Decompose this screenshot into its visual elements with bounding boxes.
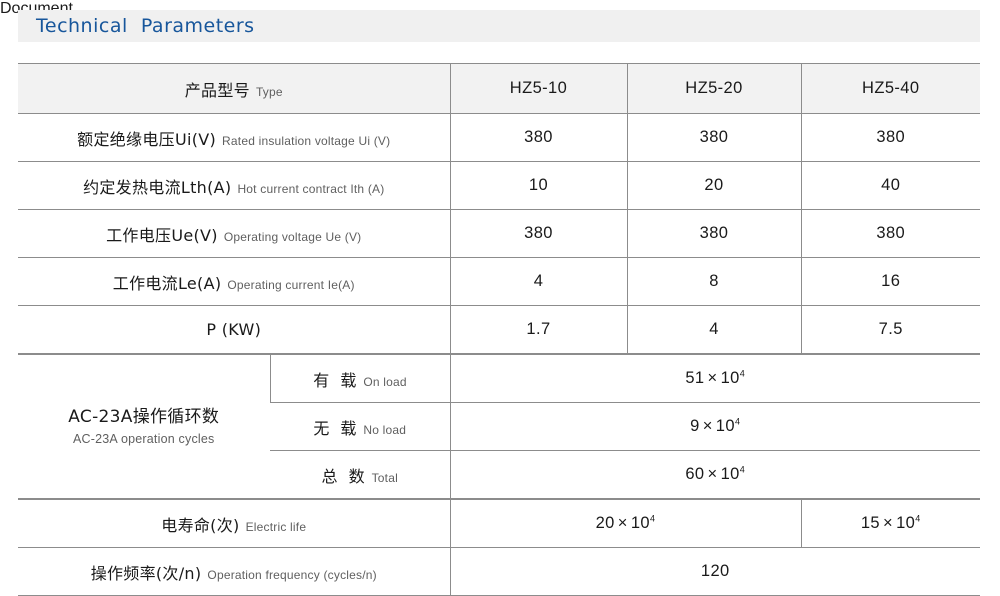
value-exponent: 4 (735, 417, 740, 427)
cell-value: 20 (627, 162, 801, 210)
cell-value: 1.7 (450, 306, 627, 354)
value-base: 60 (685, 465, 704, 483)
row-label-operating-current: 工作电流Le(A)Operating current Ie(A) (18, 258, 450, 306)
cell-value: 380 (801, 210, 980, 258)
header-cell-model-3: HZ5-40 (801, 64, 980, 114)
cell-value: 10 (450, 162, 627, 210)
value-power: 10 (721, 369, 740, 387)
value-base: 9 (690, 417, 700, 435)
sublabel-cn: 总 数 (322, 467, 368, 486)
row-label-cn: P (KW) (206, 320, 261, 339)
ac23a-sublabel-on-load: 有 载On load (270, 355, 450, 403)
ac23a-value-on-load: 51×104 (450, 355, 980, 403)
table-row: P (KW) 1.7 4 7.5 (18, 306, 980, 354)
cell-value: 4 (450, 258, 627, 306)
ac23a-sublabel-total: 总 数Total (270, 451, 450, 499)
times-symbol: × (708, 465, 718, 483)
sublabel-en: No load (363, 423, 406, 437)
sublabel-en: On load (363, 375, 406, 389)
row-label-cn: 工作电流Le(A) (113, 274, 222, 293)
row-label-en: Rated insulation voltage Ui (V) (222, 134, 390, 148)
type-label-en: Type (256, 85, 283, 99)
row-label-en: Hot current contract Ith (A) (237, 182, 384, 196)
row-label-en: Operation frequency (cycles/n) (207, 568, 376, 582)
row-label-en: Electric life (246, 520, 307, 534)
table-row-operation-frequency: 操作频率(次/n)Operation frequency (cycles/n) … (18, 548, 980, 596)
page-title: Technical Parameters (36, 15, 255, 37)
ac23a-label-en: AC-23A operation cycles (73, 431, 214, 448)
times-symbol: × (618, 514, 628, 532)
cell-value: 380 (450, 210, 627, 258)
value-exponent: 4 (740, 369, 745, 379)
row-label-cn: 额定绝缘电压Ui(V) (77, 130, 216, 149)
value-base: 20 (596, 514, 615, 532)
row-label-operation-frequency: 操作频率(次/n)Operation frequency (cycles/n) (18, 548, 450, 596)
header-cell-model-2: HZ5-20 (627, 64, 801, 114)
row-label-electric-life: 电寿命(次)Electric life (18, 500, 450, 548)
cell-value: 7.5 (801, 306, 980, 354)
ac23a-sublabel-no-load: 无 载No load (270, 403, 450, 451)
row-label-cn: 约定发热电流Lth(A) (83, 178, 231, 197)
value-base: 51 (685, 369, 704, 387)
ac23a-label-cn: AC-23A操作循环数 (68, 406, 219, 429)
row-label-rated-insulation-voltage: 额定绝缘电压Ui(V)Rated insulation voltage Ui (… (18, 114, 450, 162)
row-label-cn: 电寿命(次) (161, 516, 239, 535)
value-power: 10 (631, 514, 650, 532)
times-symbol: × (703, 417, 713, 435)
table-row: 工作电流Le(A)Operating current Ie(A) 4 8 16 (18, 258, 980, 306)
table-header-row: 产品型号Type HZ5-10 HZ5-20 HZ5-40 (18, 64, 980, 114)
table-row: 额定绝缘电压Ui(V)Rated insulation voltage Ui (… (18, 114, 980, 162)
times-symbol: × (883, 514, 893, 532)
cell-value: 380 (450, 114, 627, 162)
cell-value: 380 (627, 114, 801, 162)
header-cell-model-1: HZ5-10 (450, 64, 627, 114)
type-label-cn: 产品型号 (185, 81, 250, 100)
sublabel-en: Total (372, 471, 398, 485)
cell-value: 40 (801, 162, 980, 210)
row-label-power-kw: P (KW) (18, 306, 450, 354)
row-label-operating-voltage: 工作电压Ue(V)Operating voltage Ue (V) (18, 210, 450, 258)
table-row-electric-life: 电寿命(次)Electric life 20×104 15×104 (18, 500, 980, 548)
ac23a-cycles-table: AC-23A操作循环数 AC-23A operation cycles 有 载O… (18, 354, 980, 499)
ac23a-row-on-load: AC-23A操作循环数 AC-23A operation cycles 有 载O… (18, 355, 980, 403)
row-label-cn: 操作频率(次/n) (91, 564, 202, 583)
value-exponent: 4 (915, 514, 920, 524)
value-power: 10 (896, 514, 915, 532)
cell-electric-life-b: 15×104 (801, 500, 980, 548)
row-label-cn: 工作电压Ue(V) (106, 226, 218, 245)
times-symbol: × (708, 369, 718, 387)
row-label-hot-current-contract: 约定发热电流Lth(A)Hot current contract Ith (A) (18, 162, 450, 210)
table-row: 约定发热电流Lth(A)Hot current contract Ith (A)… (18, 162, 980, 210)
ac23a-value-no-load: 9×104 (450, 403, 980, 451)
value-exponent: 4 (740, 465, 745, 475)
cell-value: 8 (627, 258, 801, 306)
bottom-rows-table: 电寿命(次)Electric life 20×104 15×104 操作频率(次… (18, 499, 980, 596)
section-title-band: Technical Parameters (18, 10, 980, 42)
table-row: 工作电压Ue(V)Operating voltage Ue (V) 380 38… (18, 210, 980, 258)
row-label-en: Operating voltage Ue (V) (224, 230, 362, 244)
ac23a-value-total: 60×104 (450, 451, 980, 499)
cell-value: 16 (801, 258, 980, 306)
value-power: 10 (716, 417, 735, 435)
ac23a-group-label: AC-23A操作循环数 AC-23A operation cycles (18, 355, 270, 499)
cell-value: 380 (627, 210, 801, 258)
cell-value: 380 (801, 114, 980, 162)
header-cell-type: 产品型号Type (18, 64, 450, 114)
value-base: 15 (861, 514, 880, 532)
technical-parameters-table: 产品型号Type HZ5-10 HZ5-20 HZ5-40 额定绝缘电压Ui(V… (18, 63, 980, 354)
cell-electric-life-a: 20×104 (450, 500, 801, 548)
value-power: 10 (721, 465, 740, 483)
sublabel-cn: 无 载 (313, 419, 359, 438)
cell-operation-frequency-value: 120 (450, 548, 980, 596)
row-label-en: Operating current Ie(A) (227, 278, 354, 292)
value-exponent: 4 (650, 514, 655, 524)
sublabel-cn: 有 载 (313, 371, 359, 390)
technical-parameters-table-wrapper: 产品型号Type HZ5-10 HZ5-20 HZ5-40 额定绝缘电压Ui(V… (18, 63, 980, 596)
cell-value: 4 (627, 306, 801, 354)
